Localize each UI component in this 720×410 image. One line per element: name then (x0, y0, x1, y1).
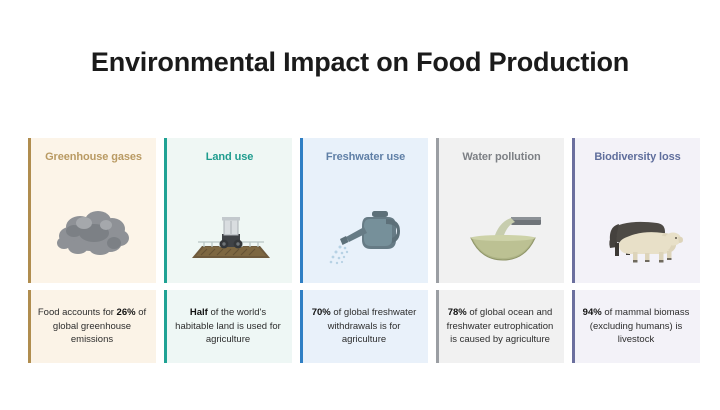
card-title-biodiversity-loss: Biodiversity loss (575, 138, 700, 165)
icon-card-land-use: Land use (164, 138, 292, 283)
card-title-freshwater-use: Freshwater use (303, 138, 428, 165)
category-column-land-use: Land use (164, 138, 292, 363)
category-column-greenhouse-gases: Greenhouse gases (28, 138, 156, 363)
category-column-freshwater-use: Freshwater use (300, 138, 428, 363)
caption-card-water-pollution: 78% of global ocean and freshwater eutro… (436, 290, 564, 363)
card-title-land-use: Land use (167, 138, 292, 165)
caption-lead-greenhouse-gases: Food accounts for (38, 307, 114, 318)
caption-text-land-use: Half of the world's habitable land is us… (167, 306, 292, 346)
tractor-field-icon (170, 190, 292, 278)
caption-card-freshwater-use: 70% of global freshwater withdrawals is … (300, 290, 428, 363)
category-column-biodiversity-loss: Biodiversity loss (572, 138, 700, 363)
livestock-cow-sheep-icon (578, 190, 700, 278)
icon-card-freshwater-use: Freshwater use (300, 138, 428, 283)
card-title-water-pollution: Water pollution (439, 138, 564, 165)
caption-stat-land-use: Half (190, 307, 208, 318)
icon-card-water-pollution: Water pollution (436, 138, 564, 283)
caption-text-water-pollution: 78% of global ocean and freshwater eutro… (439, 306, 564, 346)
caption-text-freshwater-use: 70% of global freshwater withdrawals is … (303, 306, 428, 346)
caption-card-land-use: Half of the world's habitable land is us… (164, 290, 292, 363)
category-column-water-pollution: Water pollution 78% of global ocean and … (436, 138, 564, 363)
caption-card-biodiversity-loss: 94% of mammal biomass (excluding humans)… (572, 290, 700, 363)
icon-card-greenhouse-gases: Greenhouse gases (28, 138, 156, 283)
smoke-cloud-icon (34, 190, 156, 278)
caption-stat-greenhouse-gases: 26% (117, 307, 136, 318)
impact-category-grid: Greenhouse gases (28, 138, 700, 363)
caption-text-biodiversity-loss: 94% of mammal biomass (excluding humans)… (575, 306, 700, 346)
caption-stat-water-pollution: 78% (448, 307, 467, 318)
caption-text-greenhouse-gases: Food accounts for 26% of global greenhou… (31, 306, 156, 346)
caption-stat-biodiversity-loss: 94% (583, 307, 602, 318)
caption-card-greenhouse-gases: Food accounts for 26% of global greenhou… (28, 290, 156, 363)
caption-tail-freshwater-use: of global freshwater withdrawals is for … (328, 307, 417, 345)
page-title: Environmental Impact on Food Production (0, 47, 720, 78)
pipe-discharge-bowl-icon (442, 190, 564, 278)
caption-stat-freshwater-use: 70% (312, 307, 331, 318)
card-title-greenhouse-gases: Greenhouse gases (31, 138, 156, 165)
caption-tail-biodiversity-loss: of mammal biomass (excluding humans) is … (590, 307, 690, 345)
watering-can-icon (306, 190, 428, 278)
icon-card-biodiversity-loss: Biodiversity loss (572, 138, 700, 283)
